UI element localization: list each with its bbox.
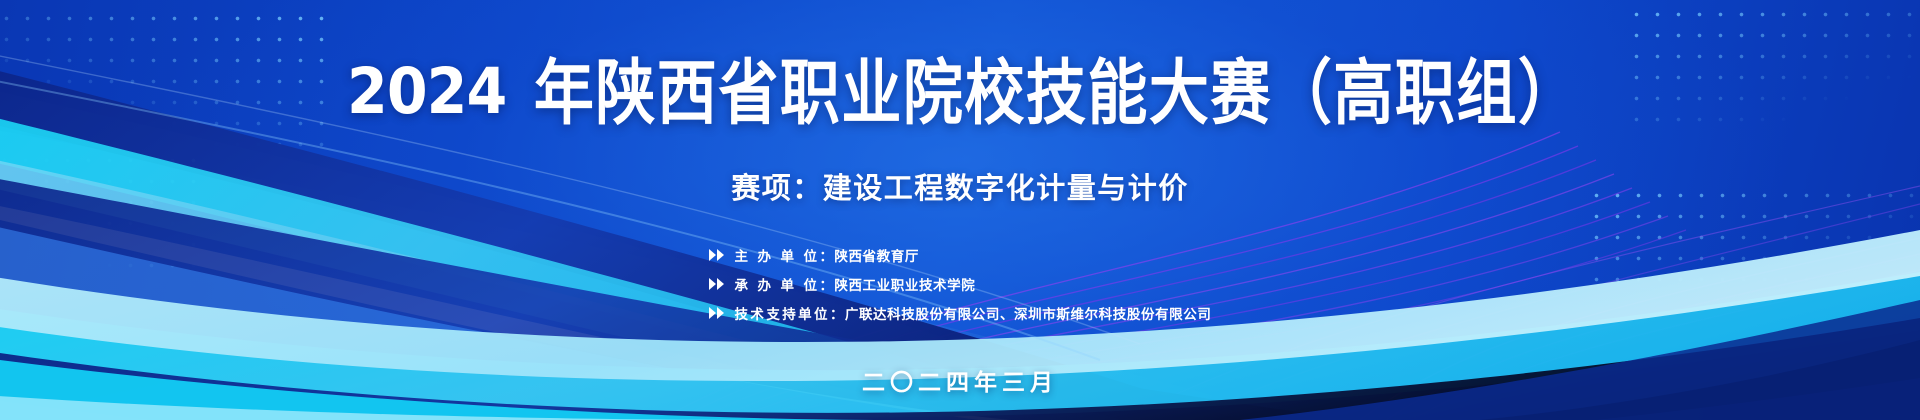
organizer-value: 广联达科技股份有限公司、深圳市斯维尔科技股份有限公司 <box>845 303 1212 323</box>
competition-subtitle: 赛项：建设工程数字化计量与计价 <box>731 165 1189 207</box>
organizer-colon: ： <box>830 303 844 323</box>
organizer-label: 技术支持单位 <box>735 303 830 323</box>
organizer-label: 主 办 单 位 <box>735 245 820 265</box>
title-year: 2024 <box>347 55 506 128</box>
organizer-colon: ： <box>819 245 833 265</box>
list-item: 主 办 单 位 ： 陕西省教育厅 <box>709 245 919 265</box>
double-chevron-right-icon <box>709 278 726 290</box>
page-title: 2024 年陕西省职业院校技能大赛（高职组） <box>341 44 1580 131</box>
banner-content: 2024 年陕西省职业院校技能大赛（高职组） 赛项：建设工程数字化计量与计价 主… <box>0 0 1920 420</box>
list-item: 承 办 单 位 ： 陕西工业职业技术学院 <box>709 274 976 294</box>
title-main-text: 年陕西省职业院校技能大赛（高职组） <box>534 36 1580 139</box>
double-chevron-right-icon <box>709 307 726 319</box>
competition-banner: 2024 年陕西省职业院校技能大赛（高职组） 赛项：建设工程数字化计量与计价 主… <box>0 0 1920 420</box>
organizer-value: 陕西工业职业技术学院 <box>834 274 975 294</box>
organizer-value: 陕西省教育厅 <box>834 245 919 265</box>
organizer-colon: ： <box>819 274 833 294</box>
double-chevron-right-icon <box>709 249 726 261</box>
list-item: 技术支持单位 ： 广联达科技股份有限公司、深圳市斯维尔科技股份有限公司 <box>709 303 1212 323</box>
organizer-list: 主 办 单 位 ： 陕西省教育厅 承 办 单 位 ： 陕西工业职业技术学院 技术… <box>709 245 1212 323</box>
organizer-label: 承 办 单 位 <box>735 274 820 294</box>
event-date: 二〇二四年三月 <box>0 363 1920 397</box>
